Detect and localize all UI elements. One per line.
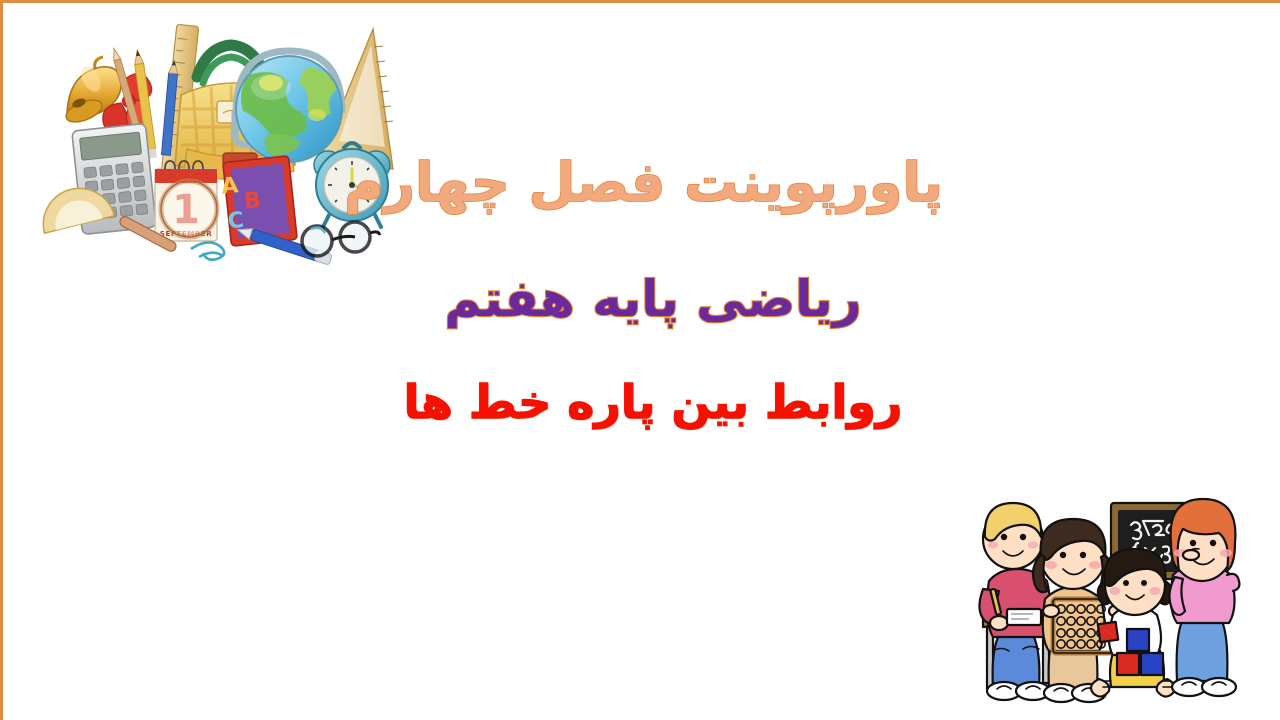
kid-red-hair-girl [1169,499,1239,696]
slide-title-block: پاورپوینت فصل چهارم ریاضی پایه هفتم رواب… [363,153,943,429]
topic-title: روابط بین پاره خط ها [363,377,943,429]
chapter-title: پاورپوینت فصل چهارم [363,153,943,213]
presentation-slide: A B C [0,0,1280,720]
school-supplies-clipart: A B C [21,17,411,267]
children-math-clipart: .ol { stroke:#111; stroke-width:2.2; str… [971,481,1267,709]
book-letter-b: B [243,188,262,215]
paper-clips-icon [191,242,224,259]
subject-title: ریاضی پایه هفتم [363,271,943,327]
book-letter-a: A [220,173,240,200]
globe-icon [235,51,342,162]
